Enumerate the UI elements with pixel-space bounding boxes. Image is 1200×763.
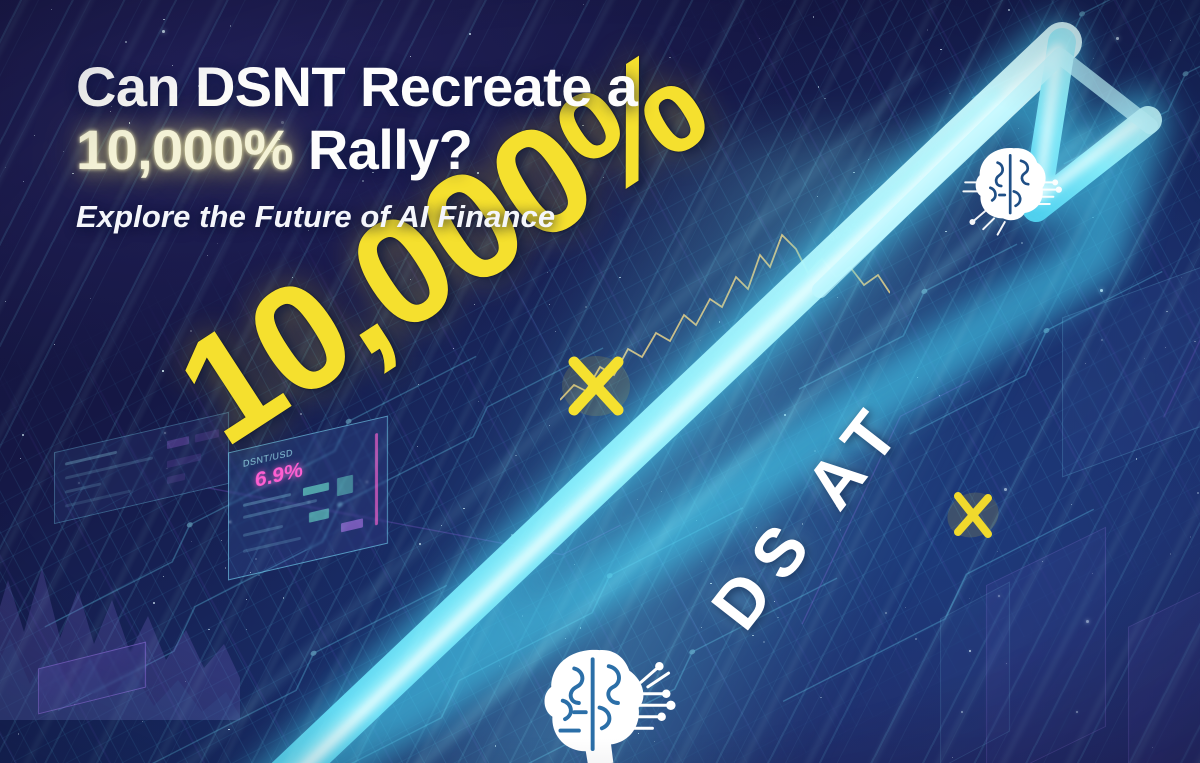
subtitle: Explore the Future of AI Finance [76,199,816,235]
headline-percent: 10,000% [76,118,293,181]
headline-line-2-tail: Rally? [293,118,472,181]
headline-block: Can DSNT Recreate a 10,000% Rally? Explo… [76,56,816,235]
headline-line-1: Can DSNT Recreate a [76,55,637,118]
banner-canvas: 88.93 DSNT/USD 6.9% [0,0,1200,763]
hud-panel-right-edge [1128,573,1200,763]
page-title: Can DSNT Recreate a 10,000% Rally? [76,56,816,181]
gold-line-chart [560,215,890,405]
